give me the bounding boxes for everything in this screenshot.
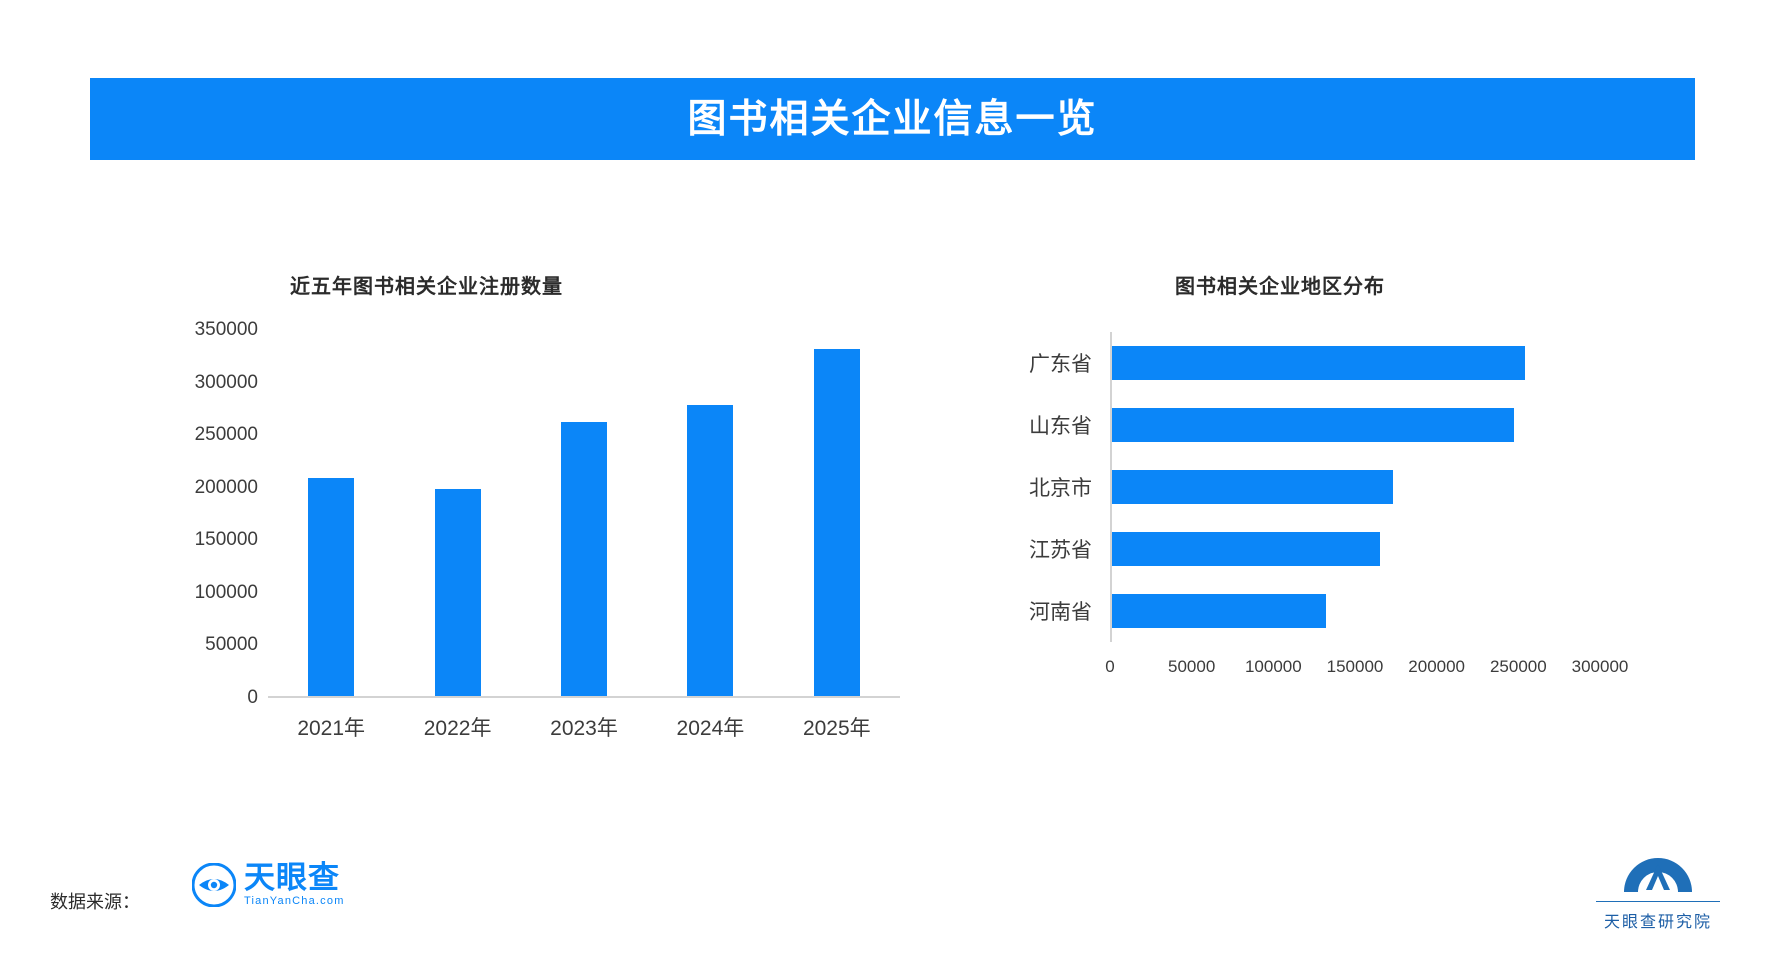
category-label: 广东省 xyxy=(1029,348,1092,378)
x-axis-tick: 2025年 xyxy=(803,712,871,742)
x-axis-tick: 150000 xyxy=(1327,657,1384,677)
tianyancha-logo-en: TianYanCha.com xyxy=(244,896,345,907)
horizontal-bar-chart: 广东省山东省北京市江苏省河南省 050000100000150000200000… xyxy=(1000,332,1700,772)
plot-area: 050000100000150000200000250000300000 xyxy=(1110,332,1600,642)
page-title: 图书相关企业信息一览 xyxy=(687,100,1097,139)
y-axis-tick: 100000 xyxy=(195,582,258,604)
x-axis-tick: 100000 xyxy=(1245,657,1302,677)
bar xyxy=(1112,470,1393,504)
y-axis-tick: 50000 xyxy=(205,634,258,656)
y-axis-tick: 350000 xyxy=(195,319,258,341)
infographic-page: 图书相关企业信息一览 近五年图书相关企业注册数量 050000100000150… xyxy=(0,0,1774,957)
data-source-label: 数据来源： xyxy=(50,888,140,914)
chart-title-registrations: 近五年图书相关企业注册数量 xyxy=(290,270,563,299)
x-axis-tick: 300000 xyxy=(1572,657,1629,677)
bar xyxy=(1112,532,1380,566)
bar xyxy=(561,422,607,696)
y-axis-tick: 300000 xyxy=(195,372,258,394)
x-axis-tick: 2024年 xyxy=(677,712,745,742)
vertical-bar-chart: 0500001000001500002000002500003000003500… xyxy=(150,330,910,780)
x-axis-tick: 50000 xyxy=(1168,657,1215,677)
x-axis-tick: 2023年 xyxy=(550,712,618,742)
y-axis-tick: 200000 xyxy=(195,477,258,499)
x-axis-tick: 200000 xyxy=(1408,657,1465,677)
bar xyxy=(1112,346,1525,380)
y-axis-tick: 250000 xyxy=(195,424,258,446)
x-axis-tick: 0 xyxy=(1105,657,1114,677)
x-axis-tick: 2022年 xyxy=(424,712,492,742)
divider xyxy=(1596,901,1720,902)
category-labels: 广东省山东省北京市江苏省河南省 xyxy=(1000,332,1092,642)
chart-title-regions: 图书相关企业地区分布 xyxy=(1175,270,1385,299)
chart-panel-registrations: 近五年图书相关企业注册数量 05000010000015000020000025… xyxy=(150,230,910,790)
institute-label: 天眼查研究院 xyxy=(1604,908,1712,932)
category-label: 江苏省 xyxy=(1029,534,1092,564)
bar xyxy=(1112,594,1326,628)
title-banner: 图书相关企业信息一览 xyxy=(90,78,1695,160)
tianyancha-eye-icon xyxy=(192,863,236,907)
plot-area: 2021年2022年2023年2024年2025年 xyxy=(268,330,900,698)
tianyancha-wordmark: 天眼查 TianYanCha.com xyxy=(244,862,345,907)
y-axis-tick: 0 xyxy=(247,687,258,709)
y-axis-tick: 150000 xyxy=(195,529,258,551)
tianyancha-logo: 天眼查 TianYanCha.com xyxy=(192,862,345,907)
category-label: 北京市 xyxy=(1029,472,1092,502)
research-institute-logo: 天眼查研究院 xyxy=(1594,848,1722,932)
x-axis-tick: 250000 xyxy=(1490,657,1547,677)
bar xyxy=(1112,408,1514,442)
bar xyxy=(687,405,733,696)
x-axis-tick: 2021年 xyxy=(297,712,365,742)
institute-arc-icon xyxy=(1620,848,1696,896)
bar xyxy=(308,478,354,696)
bar xyxy=(814,349,860,696)
chart-panel-regions: 图书相关企业地区分布 广东省山东省北京市江苏省河南省 0500001000001… xyxy=(1000,230,1700,790)
x-axis-line xyxy=(268,696,900,698)
bar xyxy=(435,489,481,696)
category-label: 河南省 xyxy=(1029,596,1092,626)
category-label: 山东省 xyxy=(1029,410,1092,440)
y-axis-tick-labels: 0500001000001500002000002500003000003500… xyxy=(150,330,258,698)
tianyancha-logo-cn: 天眼查 xyxy=(244,862,345,893)
